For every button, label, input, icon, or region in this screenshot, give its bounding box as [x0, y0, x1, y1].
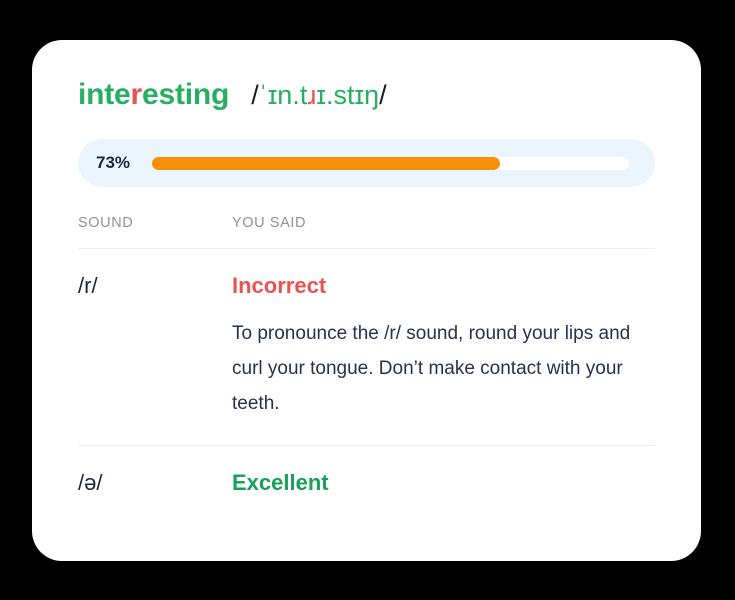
- table-header-row: SOUND YOU SAID: [78, 215, 655, 249]
- ipa-error-phoneme: ɹ: [307, 80, 316, 110]
- score-percent-label: 73%: [96, 153, 152, 173]
- score-progress-container: 73%: [78, 139, 655, 187]
- table-row[interactable]: /r/ Incorrect To pronounce the /r/ sound…: [78, 249, 655, 445]
- sound-symbol: /r/: [78, 273, 232, 299]
- ipa-suffix: ɪ.stɪŋ: [316, 80, 379, 110]
- headword-word-suffix: esting: [142, 78, 229, 111]
- score-progress-fill: [152, 157, 500, 170]
- headword-ipa: /ˈɪn.tɹɪ.stɪŋ/: [251, 80, 386, 111]
- headword-word: interesting: [78, 78, 229, 112]
- sound-symbol: /ə/: [78, 470, 232, 496]
- row-feedback-cell: Excellent: [232, 470, 655, 496]
- column-header-sound: SOUND: [78, 215, 232, 231]
- verdict-label: Excellent: [232, 470, 655, 496]
- headword-row: interesting /ˈɪn.tɹɪ.stɪŋ/: [78, 40, 655, 112]
- ipa-open-slash: /: [251, 80, 259, 110]
- row-sound-cell: /ə/: [78, 470, 232, 496]
- ipa-close-slash: /: [379, 80, 387, 110]
- sound-feedback-table: SOUND YOU SAID /r/ Incorrect To pronounc…: [78, 215, 655, 521]
- pronunciation-feedback-card: interesting /ˈɪn.tɹɪ.stɪŋ/ 73% SOUND YOU…: [32, 40, 701, 561]
- column-header-you-said: YOU SAID: [232, 215, 655, 231]
- pronunciation-tip: To pronounce the /r/ sound, round your l…: [232, 317, 655, 421]
- row-sound-cell: /r/: [78, 273, 232, 421]
- screenshot-stage: interesting /ˈɪn.tɹɪ.stɪŋ/ 73% SOUND YOU…: [0, 0, 735, 600]
- score-progress-track[interactable]: [152, 157, 629, 170]
- table-row[interactable]: /ə/ Excellent: [78, 445, 655, 520]
- headword-word-prefix: inte: [78, 78, 131, 111]
- verdict-label: Incorrect: [232, 273, 655, 299]
- row-feedback-cell: Incorrect To pronounce the /r/ sound, ro…: [232, 273, 655, 421]
- ipa-prefix: ˈɪn.t: [259, 80, 308, 110]
- headword-word-error-letter: r: [131, 78, 142, 111]
